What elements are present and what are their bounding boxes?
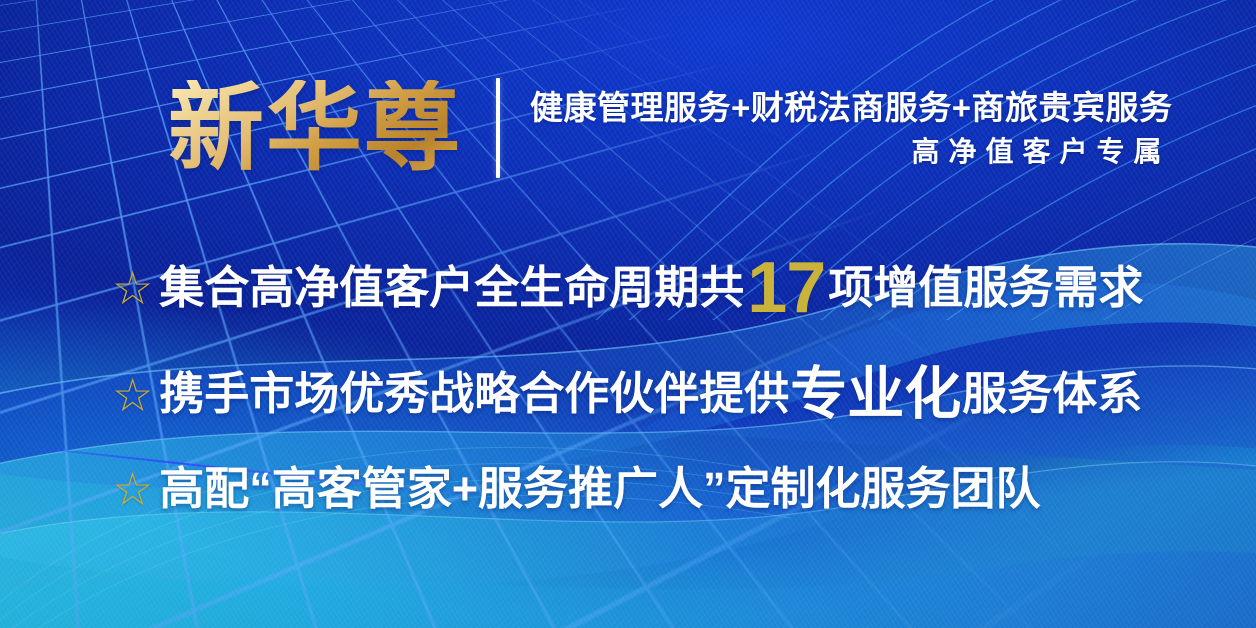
bullet-1-highlight-number: 17 (744, 252, 828, 324)
bullet-item-3: ☆ 高配“高客管家+服务推广人”定制化服务团队 (112, 465, 1192, 514)
banner-content: 新华尊 健康管理服务+财税法商服务+商旅贵宾服务 高净值客户专属 ☆ 集合高净值… (0, 0, 1256, 628)
bullet-item-2: ☆ 携手市场优秀战略合作伙伴提供 专业化 服务体系 (112, 366, 1192, 423)
star-icon: ☆ (112, 265, 153, 311)
bullet-item-1: ☆ 集合高净值客户全生命周期共 17 项增值服务需求 (112, 252, 1192, 324)
star-icon: ☆ (112, 466, 153, 512)
bullet-2-part-3: 服务体系 (962, 370, 1142, 419)
bullet-list: ☆ 集合高净值客户全生命周期共 17 项增值服务需求 ☆ 携手市场优秀战略合作伙… (112, 252, 1192, 514)
bullet-1-part-3: 项增值服务需求 (828, 264, 1143, 313)
vertical-divider (496, 78, 500, 178)
promo-banner: 新华尊 健康管理服务+财税法商服务+商旅贵宾服务 高净值客户专属 ☆ 集合高净值… (0, 0, 1256, 628)
logo-row: 新华尊 健康管理服务+财税法商服务+商旅贵宾服务 高净值客户专属 (168, 78, 1173, 178)
tagline-block: 健康管理服务+财税法商服务+商旅贵宾服务 高净值客户专属 (530, 91, 1173, 166)
brand-logo-text: 新华尊 (168, 80, 462, 176)
bullet-3-text: 高配“高客管家+服务推广人”定制化服务团队 (159, 465, 1040, 514)
tagline-line-2: 高净值客户专属 (912, 138, 1173, 166)
star-icon: ☆ (112, 372, 153, 418)
tagline-line-1: 健康管理服务+财税法商服务+商旅贵宾服务 (530, 91, 1173, 124)
bullet-2-highlight: 专业化 (789, 366, 962, 423)
bullet-1-part-1: 集合高净值客户全生命周期共 (159, 264, 744, 313)
bullet-2-part-1: 携手市场优秀战略合作伙伴提供 (159, 370, 789, 419)
